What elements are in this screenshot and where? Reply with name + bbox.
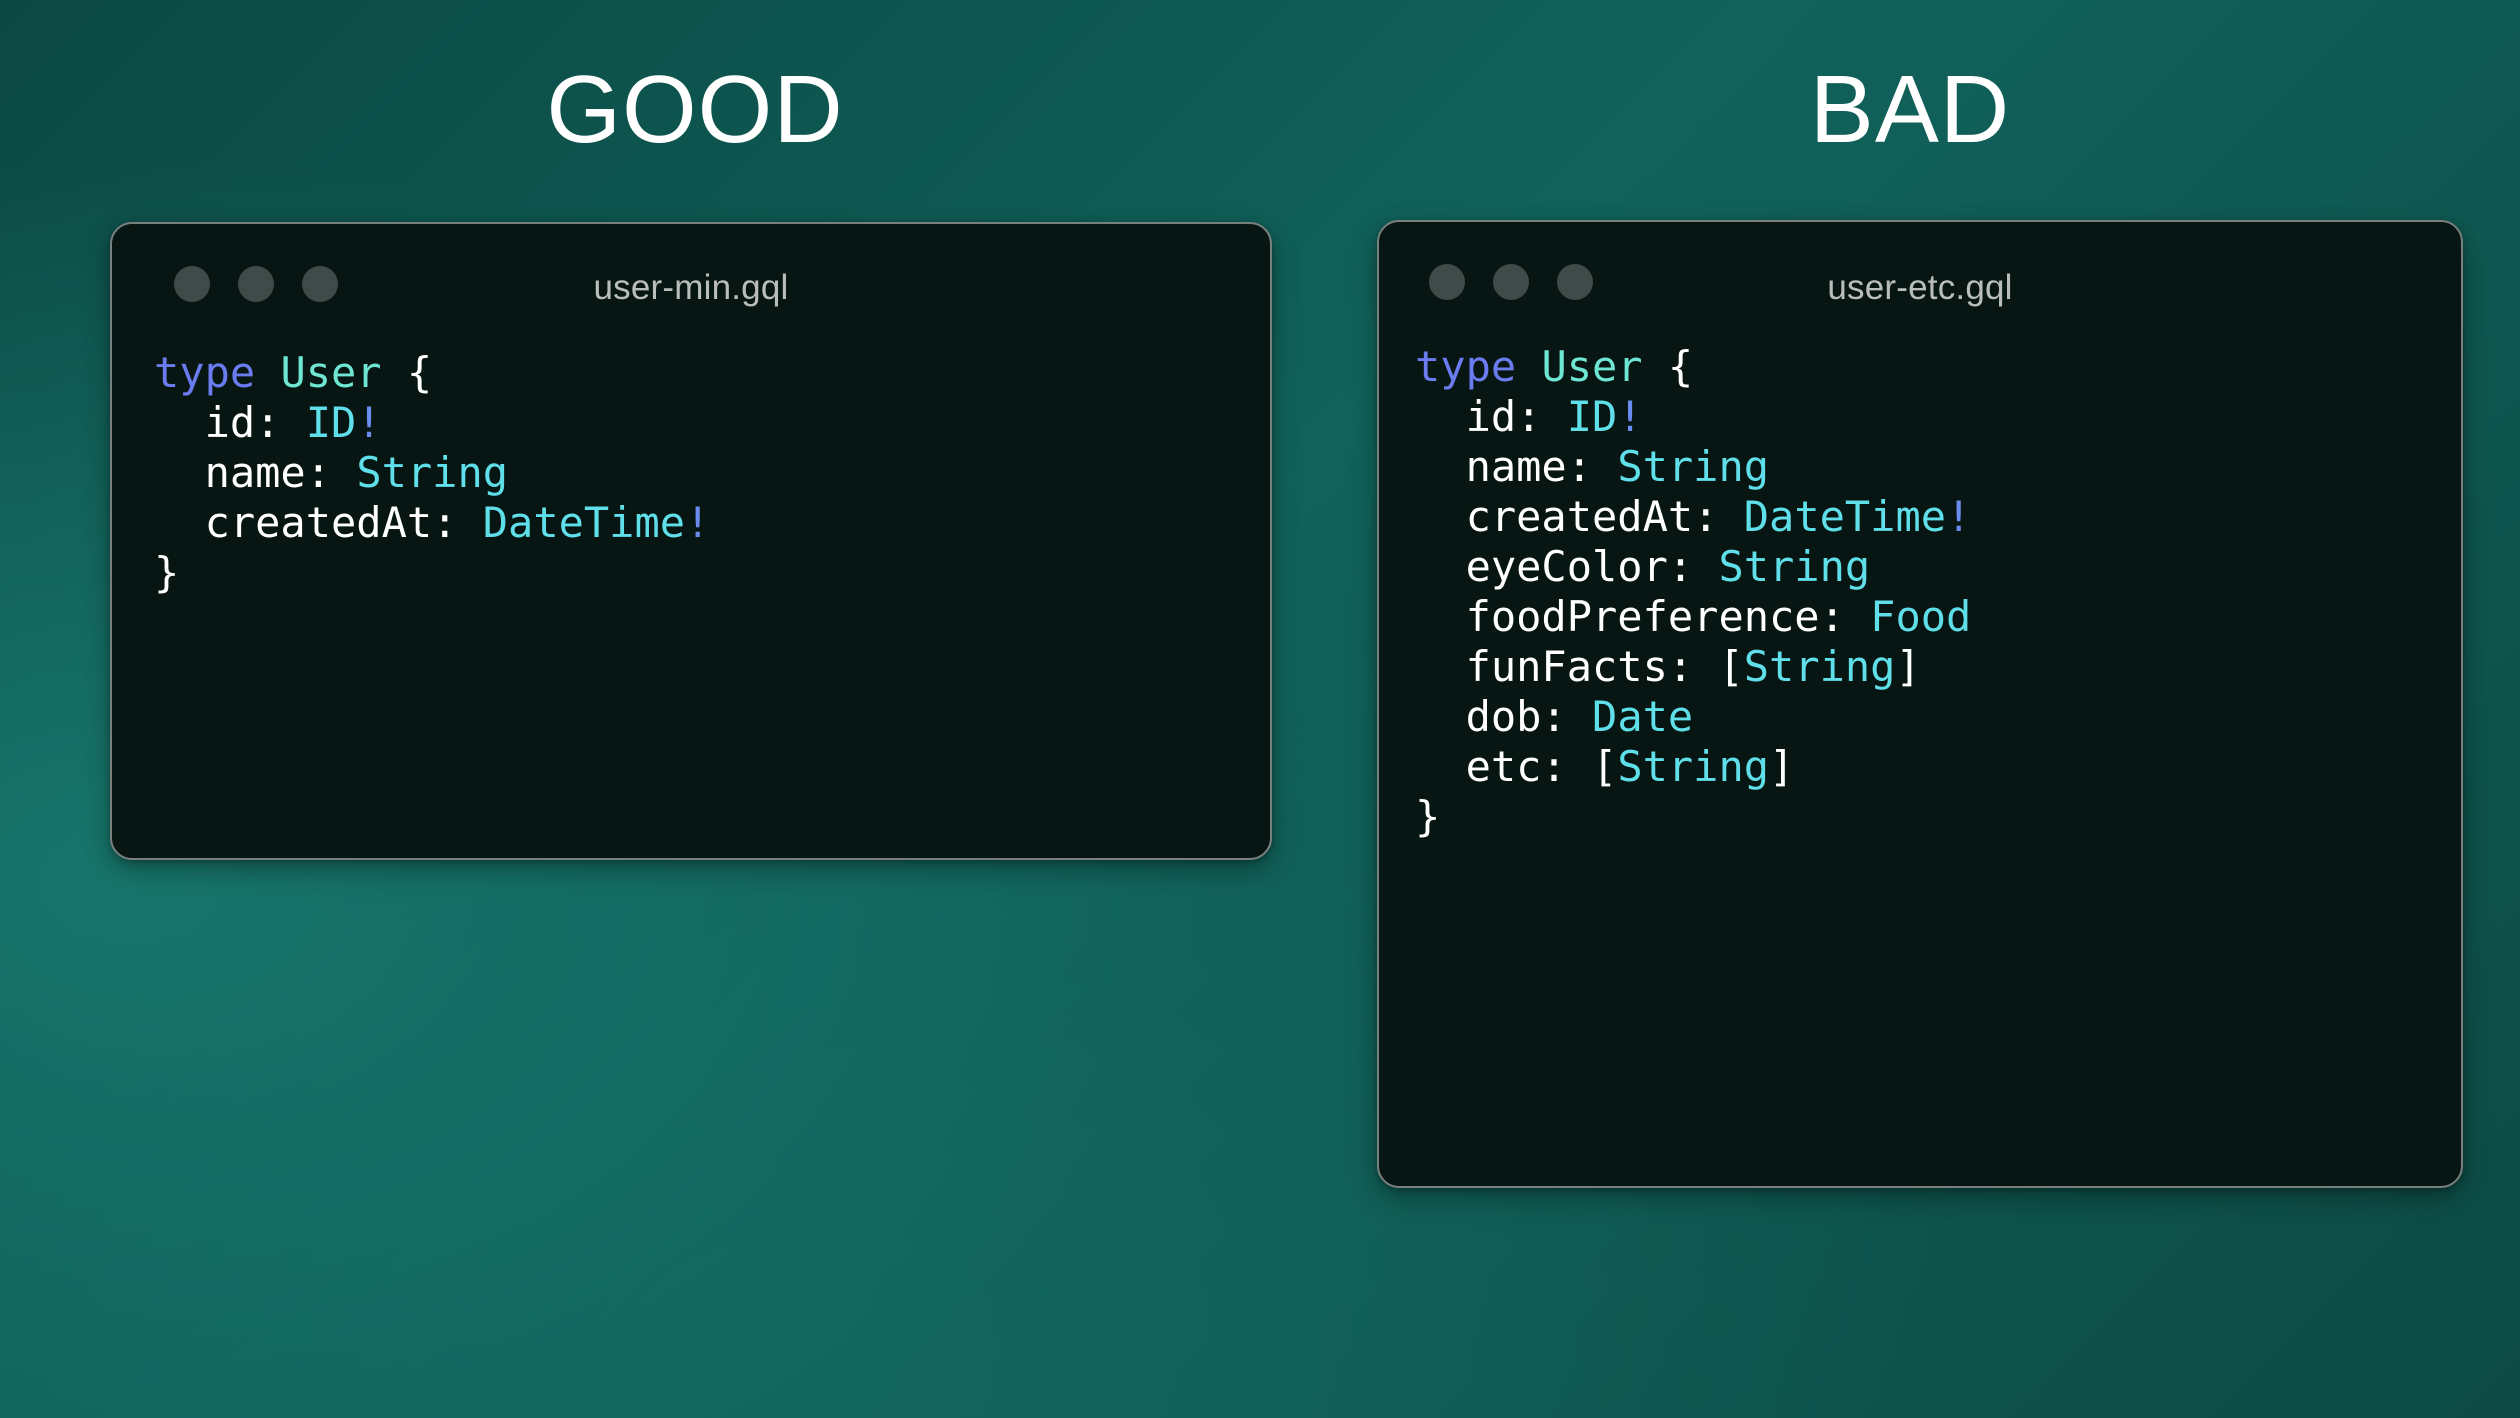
code-line: eyeColor: String bbox=[1415, 542, 2461, 592]
code-token-plain bbox=[457, 498, 482, 547]
code-token-field: createdAt: bbox=[1466, 492, 1719, 541]
code-token-field: eyeColor: bbox=[1466, 542, 1694, 591]
code-token-type: DateTime bbox=[1744, 492, 1946, 541]
code-token-plain bbox=[1567, 692, 1592, 741]
code-token-punct: { bbox=[407, 348, 432, 397]
code-token-bang: ! bbox=[356, 398, 381, 447]
slide-canvas: GOOD BAD user-min.gql type User { id: ID… bbox=[0, 0, 2520, 1418]
code-line: createdAt: DateTime! bbox=[154, 498, 1270, 548]
code-token-type: String bbox=[1744, 642, 1896, 691]
code-token-type: String bbox=[356, 448, 508, 497]
code-token-punct: } bbox=[1415, 792, 1440, 841]
code-token-plain bbox=[331, 448, 356, 497]
code-token-plain bbox=[154, 448, 205, 497]
code-token-field: name: bbox=[1466, 442, 1592, 491]
code-token-plain bbox=[154, 498, 205, 547]
code-line: name: String bbox=[154, 448, 1270, 498]
code-token-keyword: type bbox=[154, 348, 255, 397]
column-heading-good: GOOD bbox=[0, 62, 1390, 158]
code-token-plain bbox=[1415, 742, 1466, 791]
code-token-plain bbox=[1643, 342, 1668, 391]
code-token-field: foodPreference: bbox=[1466, 592, 1845, 641]
code-token-bang: ! bbox=[1946, 492, 1971, 541]
code-token-plain bbox=[1693, 542, 1718, 591]
code-line: } bbox=[1415, 792, 2461, 842]
code-token-plain bbox=[1516, 342, 1541, 391]
code-line: etc: [String] bbox=[1415, 742, 2461, 792]
window-titlebar: user-min.gql bbox=[112, 224, 1270, 336]
code-token-type: DateTime bbox=[483, 498, 685, 547]
code-token-plain bbox=[382, 348, 407, 397]
code-window-good: user-min.gql type User { id: ID! name: S… bbox=[110, 222, 1272, 860]
code-token-plain bbox=[280, 398, 305, 447]
code-token-plain bbox=[1592, 442, 1617, 491]
code-token-typename: User bbox=[1541, 342, 1642, 391]
code-line: foodPreference: Food bbox=[1415, 592, 2461, 642]
column-heading-bad: BAD bbox=[1310, 62, 2510, 158]
code-token-plain bbox=[1415, 492, 1466, 541]
code-block-bad: type User { id: ID! name: String created… bbox=[1379, 334, 2461, 842]
code-token-plain bbox=[1845, 592, 1870, 641]
code-token-field: createdAt: bbox=[205, 498, 458, 547]
code-token-plain bbox=[154, 398, 205, 447]
code-token-bang: ! bbox=[1617, 392, 1642, 441]
code-line: funFacts: [String] bbox=[1415, 642, 2461, 692]
code-token-punct: } bbox=[154, 548, 179, 597]
code-token-plain bbox=[1415, 592, 1466, 641]
code-token-punct: [ bbox=[1592, 742, 1617, 791]
code-token-bang: ! bbox=[685, 498, 710, 547]
code-token-type: String bbox=[1718, 542, 1870, 591]
code-line: id: ID! bbox=[1415, 392, 2461, 442]
code-token-keyword: type bbox=[1415, 342, 1516, 391]
code-token-plain bbox=[1415, 442, 1466, 491]
code-token-type: Food bbox=[1870, 592, 1971, 641]
code-block-good: type User { id: ID! name: String created… bbox=[112, 336, 1270, 598]
code-token-field: funFacts: bbox=[1466, 642, 1694, 691]
code-token-punct: { bbox=[1668, 342, 1693, 391]
code-line: id: ID! bbox=[154, 398, 1270, 448]
window-filename-bad: user-etc.gql bbox=[1379, 268, 2461, 308]
code-token-plain bbox=[1541, 392, 1566, 441]
code-token-plain bbox=[1415, 392, 1466, 441]
code-token-typename: User bbox=[280, 348, 381, 397]
window-titlebar: user-etc.gql bbox=[1379, 222, 2461, 334]
code-token-type: Date bbox=[1592, 692, 1693, 741]
code-token-field: id: bbox=[205, 398, 281, 447]
code-line: type User { bbox=[1415, 342, 2461, 392]
code-token-plain bbox=[1693, 642, 1718, 691]
code-token-plain bbox=[1415, 542, 1466, 591]
code-token-field: dob: bbox=[1466, 692, 1567, 741]
code-token-plain bbox=[1415, 642, 1466, 691]
code-token-punct: ] bbox=[1769, 742, 1794, 791]
code-token-type: ID bbox=[306, 398, 357, 447]
code-token-type: ID bbox=[1567, 392, 1618, 441]
code-token-plain bbox=[1415, 692, 1466, 741]
code-line: type User { bbox=[154, 348, 1270, 398]
code-token-type: String bbox=[1617, 742, 1769, 791]
code-line: createdAt: DateTime! bbox=[1415, 492, 2461, 542]
code-token-field: id: bbox=[1466, 392, 1542, 441]
code-token-field: name: bbox=[205, 448, 331, 497]
code-token-plain bbox=[255, 348, 280, 397]
code-token-punct: ] bbox=[1895, 642, 1920, 691]
code-token-plain bbox=[1567, 742, 1592, 791]
code-window-bad: user-etc.gql type User { id: ID! name: S… bbox=[1377, 220, 2463, 1188]
code-line: dob: Date bbox=[1415, 692, 2461, 742]
code-line: name: String bbox=[1415, 442, 2461, 492]
window-filename-good: user-min.gql bbox=[112, 268, 1270, 308]
code-line: } bbox=[154, 548, 1270, 598]
code-token-punct: [ bbox=[1718, 642, 1743, 691]
code-token-field: etc: bbox=[1466, 742, 1567, 791]
code-token-plain bbox=[1718, 492, 1743, 541]
code-token-type: String bbox=[1617, 442, 1769, 491]
